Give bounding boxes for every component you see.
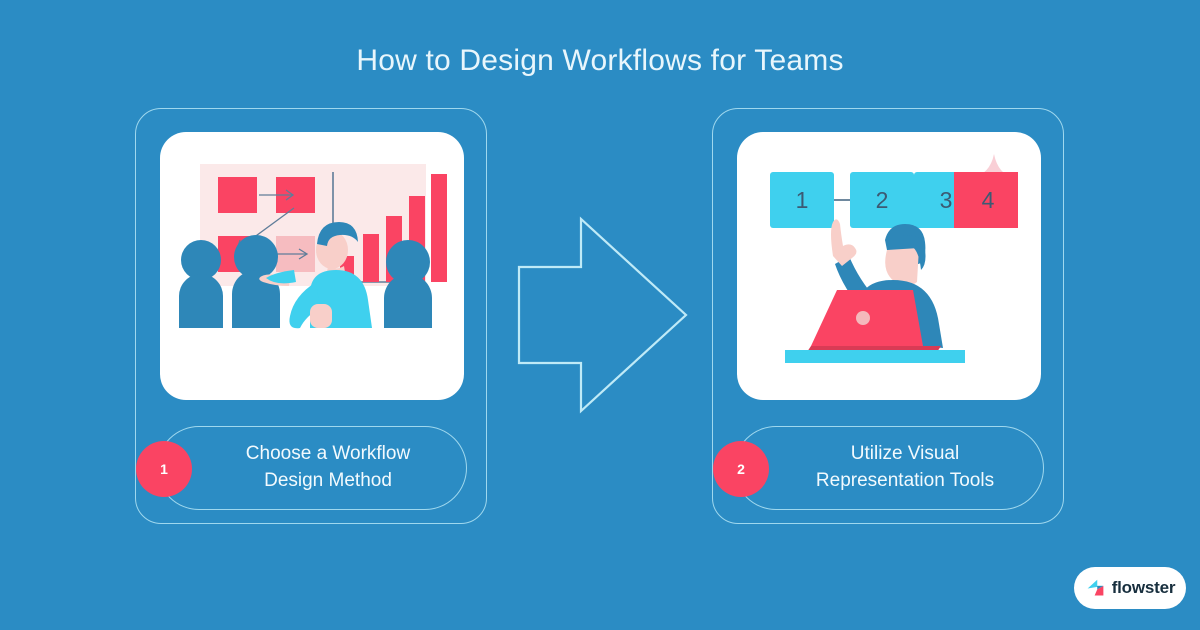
team-presentation-illustration <box>160 132 464 400</box>
presenter-hand-rest <box>310 304 332 328</box>
page-title: How to Design Workflows for Teams <box>0 44 1200 78</box>
flowster-logo-text: flowster <box>1112 578 1176 598</box>
chart-bar-2 <box>363 234 379 282</box>
step-card-1: 1 Choose a Workflow Design Method <box>135 108 487 524</box>
step-1-number-badge: 1 <box>136 441 192 497</box>
process-box-4-label: 4 <box>982 187 995 213</box>
person-laptop-illustration: 1 2 3 4 <box>737 132 1041 400</box>
audience-figure-1 <box>179 240 223 328</box>
step-1-caption-pill: 1 Choose a Workflow Design Method <box>157 426 467 510</box>
step-1-illustration-card <box>160 132 464 400</box>
process-box-2-label: 2 <box>876 187 889 213</box>
step-2-caption: Utilize Visual Representation Tools <box>735 441 1043 495</box>
step-1-caption-line-2: Design Method <box>264 470 392 491</box>
flowchart-box-1 <box>218 177 257 213</box>
step-card-2: 1 2 3 4 <box>712 108 1064 524</box>
process-box-1-label: 1 <box>796 187 809 213</box>
right-arrow-icon <box>505 205 700 425</box>
step-2-caption-pill: 2 Utilize Visual Representation Tools <box>734 426 1044 510</box>
step-1-caption: Choose a Workflow Design Method <box>158 441 466 495</box>
step-2-illustration-card: 1 2 3 4 <box>737 132 1041 400</box>
step-2-number-badge: 2 <box>713 441 769 497</box>
step-2-number: 2 <box>737 461 745 477</box>
flowster-mark-icon <box>1085 578 1106 599</box>
step-2-caption-line-2: Representation Tools <box>816 470 994 491</box>
laptop-logo-dot <box>856 311 870 325</box>
desk-surface <box>785 350 965 363</box>
step-1-number: 1 <box>160 461 168 477</box>
chart-bar-5 <box>431 174 447 282</box>
flowster-logo[interactable]: flowster <box>1074 567 1186 609</box>
audience-figure-3 <box>384 240 432 328</box>
process-box-3-label: 3 <box>940 187 953 213</box>
infographic-canvas: How to Design Workflows for Teams <box>0 0 1200 630</box>
step-1-caption-line-1: Choose a Workflow <box>246 443 410 464</box>
step-2-caption-line-1: Utilize Visual <box>851 443 959 464</box>
